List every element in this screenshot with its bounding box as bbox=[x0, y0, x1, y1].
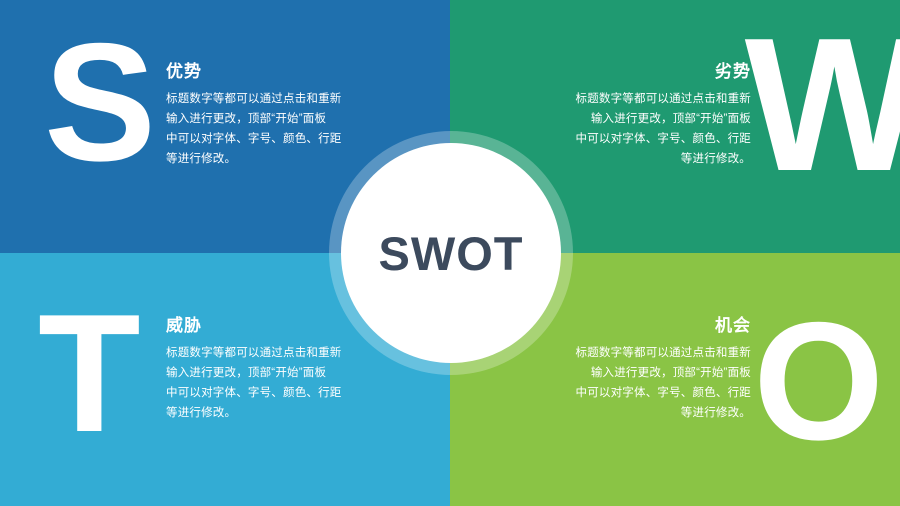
body-line: 输入进行更改，顶部“开始”面板 bbox=[166, 364, 371, 384]
body-line: 等进行修改。 bbox=[166, 150, 371, 170]
quadrant-title-weaknesses: 劣势 bbox=[546, 62, 751, 82]
quadrant-text-weaknesses: 劣势 标题数字等都可以通过点击和重新输入进行更改，顶部“开始”面板中可以对字体、… bbox=[546, 62, 751, 169]
quadrant-body-strengths: 标题数字等都可以通过点击和重新输入进行更改，顶部“开始”面板中可以对字体、字号、… bbox=[166, 90, 371, 169]
body-line: 标题数字等都可以通过点击和重新 bbox=[546, 344, 751, 364]
body-line: 等进行修改。 bbox=[546, 150, 751, 170]
body-line: 输入进行更改，顶部“开始”面板 bbox=[546, 364, 751, 384]
body-line: 等进行修改。 bbox=[546, 404, 751, 424]
quadrant-letter-s: S bbox=[44, 18, 154, 186]
body-line: 输入进行更改，顶部“开始”面板 bbox=[546, 110, 751, 130]
quadrant-title-strengths: 优势 bbox=[166, 62, 371, 82]
quadrant-body-threats: 标题数字等都可以通过点击和重新输入进行更改，顶部“开始”面板中可以对字体、字号、… bbox=[166, 344, 371, 423]
quadrant-body-opportunities: 标题数字等都可以通过点击和重新输入进行更改，顶部“开始”面板中可以对字体、字号、… bbox=[546, 344, 751, 423]
body-line: 中可以对字体、字号、颜色、行距 bbox=[546, 384, 751, 404]
quadrant-title-threats: 威胁 bbox=[166, 316, 371, 336]
swot-slide: S 优势 标题数字等都可以通过点击和重新输入进行更改，顶部“开始”面板中可以对字… bbox=[0, 0, 900, 506]
center-label: SWOT bbox=[379, 230, 524, 277]
center-circle[interactable]: SWOT bbox=[341, 143, 561, 363]
body-line: 中可以对字体、字号、颜色、行距 bbox=[546, 130, 751, 150]
quadrant-letter-w: W bbox=[745, 10, 900, 200]
body-line: 标题数字等都可以通过点击和重新 bbox=[166, 90, 371, 110]
body-line: 标题数字等都可以通过点击和重新 bbox=[546, 90, 751, 110]
body-line: 中可以对字体、字号、颜色、行距 bbox=[166, 130, 371, 150]
quadrant-title-opportunities: 机会 bbox=[546, 316, 751, 336]
quadrant-text-opportunities: 机会 标题数字等都可以通过点击和重新输入进行更改，顶部“开始”面板中可以对字体、… bbox=[546, 316, 751, 423]
quadrant-body-weaknesses: 标题数字等都可以通过点击和重新输入进行更改，顶部“开始”面板中可以对字体、字号、… bbox=[546, 90, 751, 169]
quadrant-letter-o: O bbox=[753, 297, 882, 465]
quadrant-text-threats: 威胁 标题数字等都可以通过点击和重新输入进行更改，顶部“开始”面板中可以对字体、… bbox=[166, 316, 371, 423]
body-line: 中可以对字体、字号、颜色、行距 bbox=[166, 384, 371, 404]
quadrant-text-strengths: 优势 标题数字等都可以通过点击和重新输入进行更改，顶部“开始”面板中可以对字体、… bbox=[166, 62, 371, 169]
quadrant-letter-t: T bbox=[38, 289, 139, 457]
body-line: 输入进行更改，顶部“开始”面板 bbox=[166, 110, 371, 130]
body-line: 等进行修改。 bbox=[166, 404, 371, 424]
body-line: 标题数字等都可以通过点击和重新 bbox=[166, 344, 371, 364]
